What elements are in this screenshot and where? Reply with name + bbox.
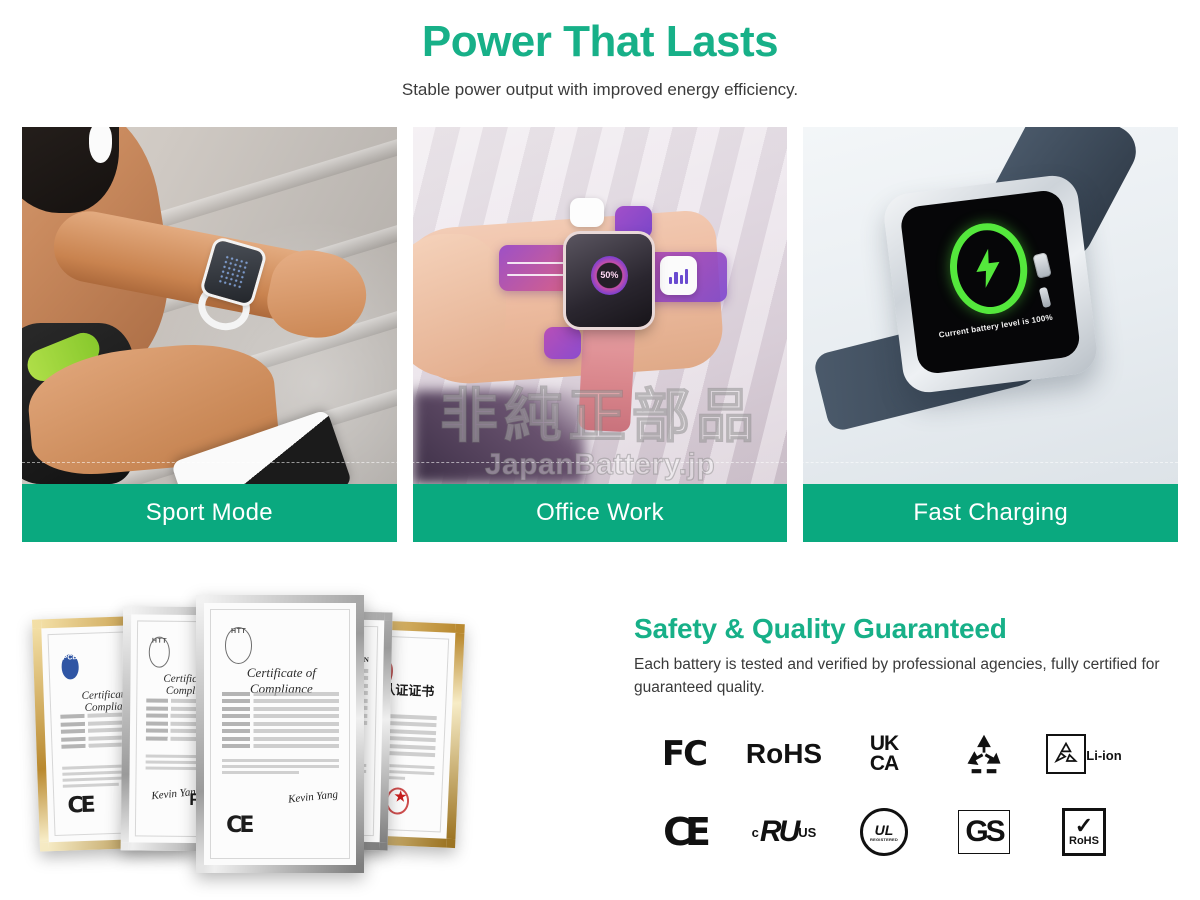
watch-strap <box>578 311 637 431</box>
gs-icon: GS <box>958 810 1010 854</box>
feature-panel-fast-charging[interactable]: Current battery level is 100% Fast Charg… <box>803 127 1178 542</box>
page-header: Power That Lasts Stable power output wit… <box>0 0 1200 100</box>
page-subtitle: Stable power output with improved energy… <box>0 80 1200 100</box>
background-shadow <box>413 391 585 484</box>
pcb-logo: PCB <box>61 654 80 679</box>
certificate-paragraph <box>222 759 339 777</box>
rohs-check-label: RoHS <box>1069 835 1099 847</box>
fast-charging-photo: Current battery level is 100% <box>803 127 1178 484</box>
feature-panels: Sport Mode 50% <box>22 127 1178 542</box>
certificate-of-compliance-main: HTT Certificate of Compliance CE Kevin Y… <box>196 595 364 873</box>
cul-suffix: US <box>798 825 816 840</box>
rohs-check-icon: ✓ RoHS <box>1062 808 1106 856</box>
certificate-fields <box>222 692 339 752</box>
li-ion-label: Li-ion <box>1086 748 1121 763</box>
feature-panel-office-work[interactable]: 50% Office Work <box>413 127 788 542</box>
battery-ring-indicator: 50% <box>591 256 628 295</box>
hand-fist <box>413 234 507 377</box>
checkmark-icon: ✓ <box>1075 817 1093 835</box>
ce-icon: CE <box>663 810 705 854</box>
rohs-check-box: ✓ RoHS <box>1062 808 1106 856</box>
earbud-icon <box>89 127 111 163</box>
ce-mark: CE <box>226 813 251 838</box>
panel-caption-fast-charging: Fast Charging <box>803 484 1178 542</box>
gs-box: GS <box>958 810 1010 854</box>
watermark-divider <box>22 462 1178 463</box>
ul-monogram: RU <box>760 815 797 849</box>
lightning-bolt-icon <box>972 248 1005 290</box>
certificates-collage: Z 理体系认证证书 ★ CHINA COMPULSORY PRODUCT CER… <box>18 595 618 895</box>
htt-logo: HTT <box>148 637 170 668</box>
app-card-settings <box>544 327 581 359</box>
app-card-chart <box>660 256 697 295</box>
cul-prefix: c <box>752 825 759 840</box>
fcc-icon: FC <box>662 734 706 774</box>
safety-block: Safety & Quality Guaranteed Each battery… <box>634 613 1174 700</box>
office-work-photo: 50% <box>413 127 788 484</box>
promo-page: Power That Lasts Stable power output wit… <box>0 0 1200 900</box>
panel-caption-sport-mode: Sport Mode <box>22 484 397 542</box>
app-card-contact <box>570 198 604 227</box>
li-ion-box <box>1046 734 1086 774</box>
red-star-icon: ★ <box>393 786 408 807</box>
ul-circle: UL REGISTERED <box>860 808 908 856</box>
li-ion-recycle-icon: Li-ion <box>1046 734 1121 774</box>
ukca-line1: UK <box>870 734 898 754</box>
panel-caption-office-work: Office Work <box>413 484 788 542</box>
ukca-line2: CA <box>870 754 898 774</box>
battery-level-text: Current battery level is 100% <box>938 313 1053 340</box>
smartwatch-case: Current battery level is 100% <box>882 173 1100 395</box>
cul-us-icon: c RU US <box>752 815 817 849</box>
feature-panel-sport-mode[interactable]: Sport Mode <box>22 127 397 542</box>
safety-description: Each battery is tested and verified by p… <box>634 653 1174 700</box>
ul-registered-icon: UL REGISTERED <box>860 808 908 856</box>
charging-ring-icon <box>945 219 1032 319</box>
smartwatch-screen: Current battery level is 100% <box>899 189 1082 376</box>
app-card-checkbox <box>615 206 652 238</box>
safety-heading: Safety & Quality Guaranteed <box>634 613 1174 645</box>
rohs-text-icon: RoHS <box>746 738 822 770</box>
page-title: Power That Lasts <box>0 18 1200 66</box>
certification-badges: FC RoHS UK CA <box>634 715 1134 871</box>
htt-logo: HTT <box>225 627 253 664</box>
lower-section: Z 理体系认证证书 ★ CHINA COMPULSORY PRODUCT CER… <box>0 585 1200 900</box>
certificate-page: HTT Certificate of Compliance CE Kevin Y… <box>210 609 350 859</box>
sport-mode-photo <box>22 127 397 484</box>
ul-text: UL <box>875 823 894 837</box>
ukca-icon: UK CA <box>870 734 898 774</box>
ce-mark: CE <box>67 793 93 819</box>
signature: Kevin Yang <box>288 789 339 806</box>
gs-text: GS <box>965 815 1002 849</box>
ul-registered-text: REGISTERED <box>870 837 898 842</box>
bar-chart-icon <box>669 267 688 284</box>
recycle-icon <box>962 732 1006 776</box>
